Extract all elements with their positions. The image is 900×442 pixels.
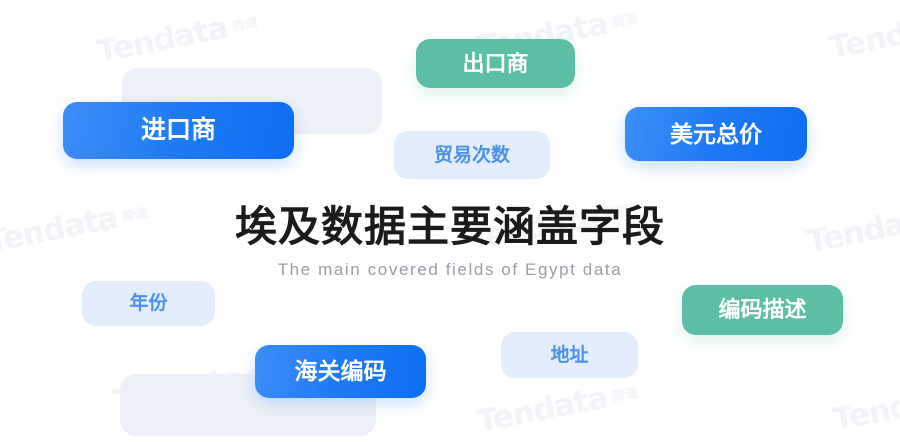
field-chip-label: 贸易次数 (434, 146, 510, 165)
field-chip-label: 年份 (129, 294, 167, 313)
watermark-logo-text: Tendata (475, 383, 610, 439)
field-chip-label: 进口商 (141, 118, 216, 143)
field-chip-label: 出口商 (462, 53, 528, 75)
watermark-cn-text: 腾道 (611, 386, 639, 404)
watermark-tendata: Tendata腾道 (95, 7, 261, 69)
headline-block: 埃及数据主要涵盖字段 The main covered fields of Eg… (0, 206, 900, 278)
watermark-tendata: Tendata腾道 (831, 375, 900, 437)
field-chip-trade-count[interactable]: 贸易次数 (394, 131, 550, 179)
watermark-cn-text: 腾道 (231, 16, 259, 34)
page-title: 埃及数据主要涵盖字段 (0, 206, 900, 248)
field-chip-hs-code[interactable]: 海关编码 (255, 345, 426, 398)
field-chip-year[interactable]: 年份 (82, 281, 215, 326)
field-chip-label: 美元总价 (670, 123, 762, 146)
field-chip-label: 海关编码 (295, 360, 387, 383)
watermark-tendata: Tendata腾道 (475, 377, 641, 439)
infographic-canvas: Tendata腾道Tendata腾道Tendata腾道Tendata腾道Tend… (0, 0, 900, 442)
field-chip-importer[interactable]: 进口商 (63, 102, 294, 159)
field-chip-label: 编码描述 (718, 299, 806, 321)
field-chip-label: 地址 (550, 346, 588, 365)
watermark-logo-text: Tendata (95, 13, 230, 69)
field-chip-code-description[interactable]: 编码描述 (682, 285, 843, 335)
field-chip-total-usd-price[interactable]: 美元总价 (625, 107, 807, 161)
field-chip-exporter[interactable]: 出口商 (416, 39, 575, 88)
watermark-logo-text: Tendata (827, 9, 900, 65)
watermark-cn-text: 腾道 (611, 12, 639, 30)
watermark-tendata: Tendata腾道 (827, 3, 900, 65)
field-chip-address[interactable]: 地址 (501, 332, 638, 378)
page-subtitle: The main covered fields of Egypt data (0, 261, 900, 278)
watermark-logo-text: Tendata (831, 381, 900, 437)
